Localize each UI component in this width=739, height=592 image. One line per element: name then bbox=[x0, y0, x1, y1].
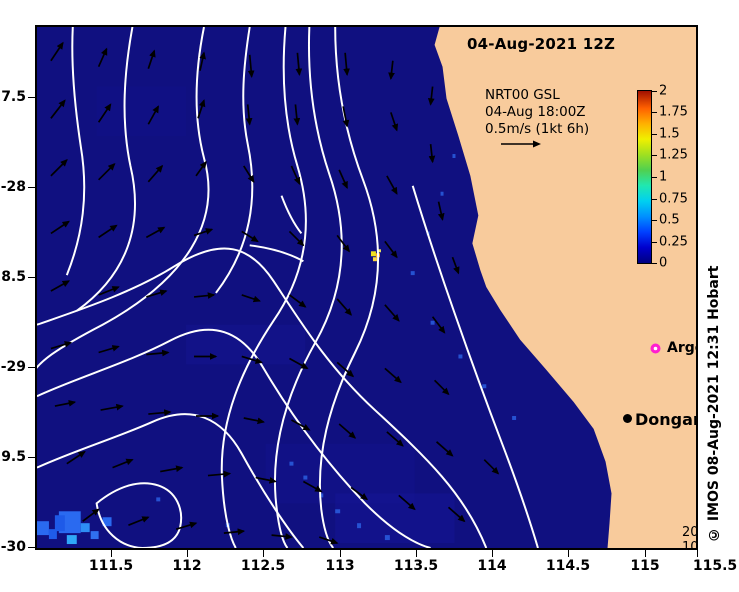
dongara-marker bbox=[623, 414, 632, 423]
x-axis-label: 114.5 bbox=[546, 558, 590, 574]
argo-label: Argo bbox=[667, 340, 698, 356]
x-axis-tick bbox=[263, 550, 264, 557]
y-axis-label: -29 bbox=[1, 359, 26, 375]
x-axis-tick bbox=[416, 550, 417, 557]
y-axis-label: -30 bbox=[1, 539, 26, 555]
x-axis-label: 112 bbox=[172, 558, 201, 574]
colorbar-label: 0.75 bbox=[659, 192, 688, 207]
colorbar-label: 2 bbox=[659, 84, 667, 99]
x-axis-tick bbox=[111, 550, 112, 557]
y-axis-label: -28.5 bbox=[0, 269, 26, 285]
y-axis-tick bbox=[28, 367, 35, 368]
y-axis-tick bbox=[28, 187, 35, 188]
current-annotation: NRT00 GSL 04-Aug 18:00Z 0.5m/s (1kt 6h) bbox=[485, 87, 589, 138]
depth-scale-legend: 200m 1000m bbox=[682, 525, 698, 550]
x-axis-tick bbox=[568, 550, 569, 557]
colorbar-tick bbox=[652, 220, 657, 221]
colorbar-label: 1.25 bbox=[659, 148, 688, 163]
dongara-label: Dongara bbox=[635, 410, 698, 429]
colorbar-label: 0.5 bbox=[659, 213, 680, 228]
y-axis-label: -29.5 bbox=[0, 449, 26, 465]
x-axis-label: 113.5 bbox=[394, 558, 438, 574]
x-axis-label: 111.5 bbox=[89, 558, 133, 574]
y-axis-tick bbox=[28, 97, 35, 98]
y-axis-tick bbox=[28, 457, 35, 458]
map-plot-area: 04-Aug-2021 12Z NRT00 GSL 04-Aug 18:00Z … bbox=[35, 25, 698, 550]
y-axis-label: -28 bbox=[1, 179, 26, 195]
y-axis-tick bbox=[28, 547, 35, 548]
colorbar-tick bbox=[652, 112, 657, 113]
colorbar-label: 0 bbox=[659, 256, 667, 271]
colorbar-tick bbox=[652, 242, 657, 243]
x-axis-label: 114 bbox=[477, 558, 506, 574]
annotation-line-1: NRT00 GSL bbox=[485, 87, 589, 104]
velocity-reference-arrow bbox=[500, 139, 542, 149]
y-axis-tick bbox=[28, 277, 35, 278]
colorbar-gradient bbox=[637, 90, 652, 264]
annotation-line-3: 0.5m/s (1kt 6h) bbox=[485, 121, 589, 138]
colorbar-label: 1.75 bbox=[659, 105, 688, 120]
sst-age-raster bbox=[37, 27, 696, 548]
x-axis-tick bbox=[187, 550, 188, 557]
colorbar-label: 1 bbox=[659, 170, 667, 185]
colorbar-tick bbox=[652, 199, 657, 200]
x-axis-label: 112.5 bbox=[241, 558, 285, 574]
x-axis-label: 115.5 bbox=[693, 558, 737, 574]
colorbar-tick bbox=[652, 91, 657, 92]
x-axis-tick bbox=[697, 550, 698, 557]
scale-label-1000m: 1000m bbox=[682, 540, 698, 550]
colorbar-label: 1.5 bbox=[659, 127, 680, 142]
colorbar-tick bbox=[652, 155, 657, 156]
copyright-credit: © IMOS 08-Aug-2021 12:31 Hobart bbox=[706, 282, 726, 542]
x-axis-label: 113 bbox=[325, 558, 354, 574]
x-axis-tick bbox=[492, 550, 493, 557]
x-axis-label: 115 bbox=[630, 558, 659, 574]
map-title: 04-Aug-2021 12Z bbox=[467, 35, 615, 53]
colorbar-tick bbox=[652, 177, 657, 178]
colorbar-tick bbox=[652, 134, 657, 135]
x-axis-tick bbox=[645, 550, 646, 557]
y-axis-label: -27.5 bbox=[0, 89, 26, 105]
colorbar-tick bbox=[652, 263, 657, 264]
colorbar-label: 0.25 bbox=[659, 235, 688, 250]
scale-label-200m: 200m bbox=[682, 525, 698, 540]
colorbar: 2 1.75 1.5 1.25 1 0.75 0.5 0.25 0 Age (d… bbox=[637, 87, 698, 302]
x-axis-tick bbox=[340, 550, 341, 557]
argo-float-marker[interactable] bbox=[650, 343, 661, 354]
annotation-line-2: 04-Aug 18:00Z bbox=[485, 104, 589, 121]
